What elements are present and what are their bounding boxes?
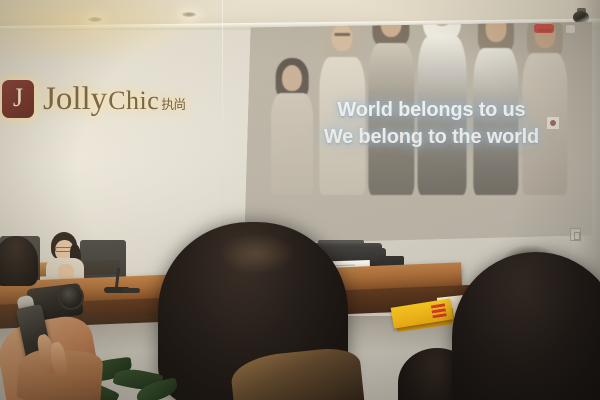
- audience-head-left: [0, 236, 38, 286]
- jollychic-wordmark: Jolly Chic 执尚: [43, 81, 185, 118]
- envelope-red-print: [431, 303, 447, 318]
- wordmark-jolly: Jolly: [43, 81, 107, 118]
- ceiling-downlight-icon: [88, 17, 102, 22]
- camera-dome: [573, 11, 589, 23]
- ceiling-downlight-icon: [182, 12, 196, 17]
- photo-scene: World belongs to us We belong to the wor…: [0, 0, 600, 400]
- microphone-base: [122, 288, 140, 293]
- power-outlet-icon: [570, 228, 581, 241]
- wordmark-chic: Chic: [108, 86, 159, 116]
- camera-lens-icon: [58, 284, 84, 310]
- projection-screen: World belongs to us We belong to the wor…: [243, 22, 592, 244]
- wall-seam: [222, 0, 223, 250]
- jollychic-wall-sign: J Jolly Chic 执尚: [2, 76, 185, 122]
- jollychic-logo-mark: J: [2, 80, 34, 118]
- projection-haze: [243, 22, 592, 244]
- wordmark-chinese: 执尚: [161, 94, 185, 113]
- security-camera-icon: [573, 8, 591, 24]
